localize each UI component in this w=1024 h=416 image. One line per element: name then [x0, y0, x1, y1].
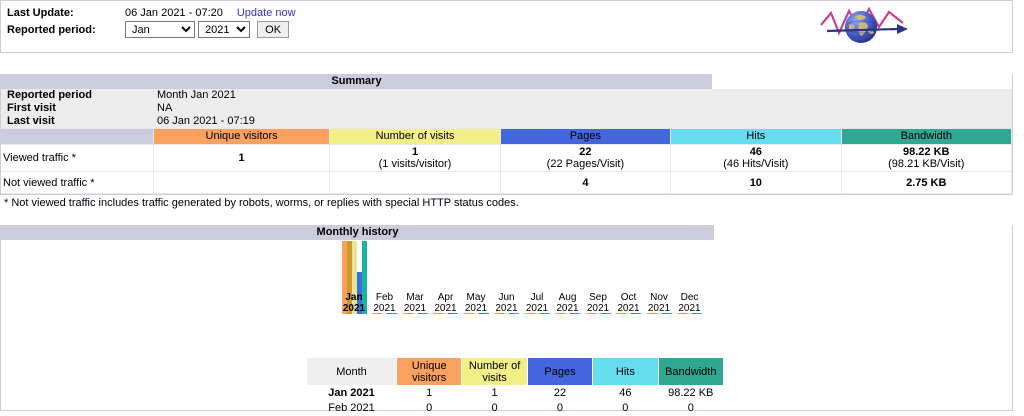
chart-month-year: 2021: [370, 303, 400, 314]
chart-month-year: 2021: [492, 303, 522, 314]
monthly-row-month: Jan 2021: [307, 386, 397, 401]
chart-month-column: Jun2021: [492, 241, 522, 314]
chart-month-label: Feb2021: [370, 292, 400, 314]
summary-metric-subvalue: (1 visits/visitor): [331, 158, 498, 170]
chart-month-label: Mar2021: [400, 292, 430, 314]
update-now-link[interactable]: Update now: [237, 7, 296, 19]
last-update-value: 06 Jan 2021 - 07:20: [125, 6, 237, 20]
chart-month-year: 2021: [675, 303, 705, 314]
summary-data-cell: 1(1 visits/visitor): [330, 145, 500, 172]
monthly-history-chart: Jan2021Feb2021Mar2021Apr2021May2021Jun20…: [1, 241, 1012, 336]
chart-month-year: 2021: [522, 303, 552, 314]
monthly-row-value: 98.22 KB: [658, 386, 723, 401]
month-select[interactable]: JanFebMarAprMayJunJulAugSepOctNovDec: [125, 21, 195, 38]
chart-month-column: Aug2021: [553, 241, 583, 314]
chart-month-label: Jul2021: [522, 292, 552, 314]
monthly-column-header: Month: [307, 358, 397, 386]
chart-month-name: Apr: [431, 292, 461, 303]
monthly-row-value: 22: [527, 386, 592, 401]
monthly-table-header-row: MonthUnique visitorsNumber of visitsPage…: [307, 358, 724, 386]
chart-month-column: Oct2021: [614, 241, 644, 314]
chart-month-column: Nov2021: [644, 241, 674, 314]
summary-metric-value: 10: [672, 177, 839, 189]
summary-column-header: Unique visitors: [153, 129, 329, 145]
summary-row-label: Viewed traffic *: [1, 145, 153, 172]
summary-row-label: Not viewed traffic *: [1, 172, 153, 194]
chart-month-label: Dec2021: [675, 292, 705, 314]
chart-month-column: Dec2021: [675, 241, 705, 314]
chart-month-year: 2021: [583, 303, 613, 314]
arrow-head-icon: [897, 24, 908, 34]
period-controls: JanFebMarAprMayJunJulAugSepOctNovDec 202…: [125, 20, 296, 39]
chart-month-name: Jul: [522, 292, 552, 303]
summary-column-header: Number of visits: [330, 129, 500, 145]
header-panel: Last Update: 06 Jan 2021 - 07:20 Update …: [0, 0, 1013, 53]
monthly-row-value: 0: [462, 401, 527, 416]
monthly-row-value: 1: [397, 386, 462, 401]
chart-month-column: Apr2021: [431, 241, 461, 314]
chart-month-label: May2021: [461, 292, 491, 314]
chart-month-label: Sep2021: [583, 292, 613, 314]
chart-month-name: Aug: [553, 292, 583, 303]
monthly-column-header: Unique visitors: [397, 358, 462, 386]
awstats-globe-logo-icon: [813, 3, 917, 51]
summary-column-header: Bandwidth: [841, 129, 1011, 145]
reported-period-row: Reported period: JanFebMarAprMayJunJulAu…: [7, 20, 296, 39]
monthly-row-value: 0: [593, 401, 658, 416]
chart-month-year: 2021: [553, 303, 583, 314]
summary-metric-subvalue: (46 Hits/Visit): [672, 158, 839, 170]
monthly-table-row: Jan 202111224698.22 KB: [307, 386, 724, 401]
update-now-cell: Update now: [237, 6, 296, 20]
summary-data-cell: 4: [500, 172, 670, 194]
summary-corner-cell: [1, 129, 153, 145]
monthly-table-row: Feb 202100000: [307, 401, 724, 416]
monthly-column-header: Pages: [527, 358, 592, 386]
monthly-history-title: Monthly history: [1, 225, 714, 240]
summary-data-cell: [153, 172, 329, 194]
chart-month-label: Jan2021: [339, 292, 369, 314]
summary-meta-value: 06 Jan 2021 - 07:19: [151, 115, 1012, 128]
chart-month-column: Jul2021: [522, 241, 552, 314]
summary-metric-value: 98.22 KB: [843, 146, 1010, 158]
summary-panel: Summary Reported periodMonth Jan 2021Fir…: [0, 74, 1013, 195]
summary-metric-value: 1: [155, 152, 328, 164]
summary-metric-subvalue: (22 Pages/Visit): [502, 158, 669, 170]
chart-month-name: Oct: [614, 292, 644, 303]
chart-month-column: Sep2021: [583, 241, 613, 314]
summary-data-cell: 1: [153, 145, 329, 172]
summary-meta-value: Month Jan 2021: [151, 89, 1012, 102]
chart-month-label: Jun2021: [492, 292, 522, 314]
summary-metric-value: 4: [502, 177, 669, 189]
chart-month-name: Nov: [644, 292, 674, 303]
chart-month-column: May2021: [461, 241, 491, 314]
chart-month-year: 2021: [339, 303, 369, 314]
monthly-column-header: Hits: [593, 358, 658, 386]
chart-month-label: Apr2021: [431, 292, 461, 314]
monthly-title-row: Monthly history: [1, 225, 1012, 240]
summary-meta-row: Reported periodMonth Jan 2021: [1, 89, 1012, 102]
summary-header-row: Unique visitorsNumber of visitsPagesHits…: [1, 129, 1012, 145]
summary-data-cell: 2.75 KB: [841, 172, 1011, 194]
monthly-history-table: MonthUnique visitorsNumber of visitsPage…: [306, 357, 724, 416]
summary-data-row: Viewed traffic *11(1 visits/visitor)22(2…: [1, 145, 1012, 172]
chart-month-column: Feb2021: [370, 241, 400, 314]
summary-data-cell: [330, 172, 500, 194]
summary-metric-value: 1: [331, 146, 498, 158]
monthly-row-value: 0: [527, 401, 592, 416]
summary-meta-row: First visitNA: [1, 102, 1012, 115]
summary-meta-key: Reported period: [1, 89, 151, 102]
summary-title-row: Summary: [1, 74, 1012, 89]
chart-month-name: Jan: [339, 292, 369, 303]
monthly-history-panel: Monthly history Jan2021Feb2021Mar2021Apr…: [0, 225, 1013, 411]
reported-period-label: Reported period:: [7, 20, 125, 39]
monthly-row-value: 0: [397, 401, 462, 416]
chart-month-column: Mar2021: [400, 241, 430, 314]
monthly-row-value: 1: [462, 386, 527, 401]
monthly-row-value: 46: [593, 386, 658, 401]
year-select[interactable]: 2021: [198, 21, 250, 38]
chart-month-label: Oct2021: [614, 292, 644, 314]
chart-month-name: Sep: [583, 292, 613, 303]
summary-data-cell: 46(46 Hits/Visit): [671, 145, 841, 172]
chart-month-name: Jun: [492, 292, 522, 303]
chart-month-year: 2021: [461, 303, 491, 314]
summary-data-row: Not viewed traffic *4102.75 KB: [1, 172, 1012, 194]
chart-month-name: Dec: [675, 292, 705, 303]
chart-plot-area: Jan2021Feb2021Mar2021Apr2021May2021Jun20…: [339, 241, 705, 336]
chart-month-column: Jan2021: [339, 241, 369, 314]
chart-month-name: Mar: [400, 292, 430, 303]
summary-metric-subvalue: (98.21 KB/Visit): [843, 158, 1010, 170]
summary-data-cell: 98.22 KB(98.21 KB/Visit): [841, 145, 1011, 172]
monthly-column-header: Bandwidth: [658, 358, 723, 386]
summary-title-filler: [712, 74, 1012, 89]
summary-column-header: Hits: [671, 129, 841, 145]
summary-data-cell: 10: [671, 172, 841, 194]
chart-month-name: May: [461, 292, 491, 303]
monthly-column-header: Number of visits: [462, 358, 527, 386]
summary-metric-value: 22: [502, 146, 669, 158]
monthly-title-filler: [714, 225, 1012, 240]
chart-month-name: Feb: [370, 292, 400, 303]
monthly-row-month: Feb 2021: [307, 401, 397, 416]
last-update-row: Last Update: 06 Jan 2021 - 07:20 Update …: [7, 6, 296, 20]
monthly-row-value: 0: [658, 401, 723, 416]
summary-meta-row: Last visit06 Jan 2021 - 07:19: [1, 115, 1012, 128]
summary-data-cell: 22(22 Pages/Visit): [500, 145, 670, 172]
summary-metric-value: 2.75 KB: [843, 177, 1010, 189]
summary-title: Summary: [1, 74, 712, 89]
summary-metric-value: 46: [672, 146, 839, 158]
ok-button[interactable]: OK: [257, 21, 289, 38]
summary-footnote: * Not viewed traffic includes traffic ge…: [4, 197, 519, 209]
summary-meta-table: Reported periodMonth Jan 2021First visit…: [1, 89, 1012, 128]
last-update-label: Last Update:: [7, 6, 125, 20]
summary-stats-table: Unique visitorsNumber of visitsPagesHits…: [1, 128, 1012, 194]
summary-meta-value: NA: [151, 102, 1012, 115]
summary-column-header: Pages: [500, 129, 670, 145]
chart-month-year: 2021: [644, 303, 674, 314]
summary-meta-key: First visit: [1, 102, 151, 115]
report-controls: Last Update: 06 Jan 2021 - 07:20 Update …: [7, 6, 296, 39]
chart-month-year: 2021: [400, 303, 430, 314]
chart-month-label: Nov2021: [644, 292, 674, 314]
chart-month-label: Aug2021: [553, 292, 583, 314]
chart-month-year: 2021: [614, 303, 644, 314]
summary-meta-key: Last visit: [1, 115, 151, 128]
chart-month-year: 2021: [431, 303, 461, 314]
